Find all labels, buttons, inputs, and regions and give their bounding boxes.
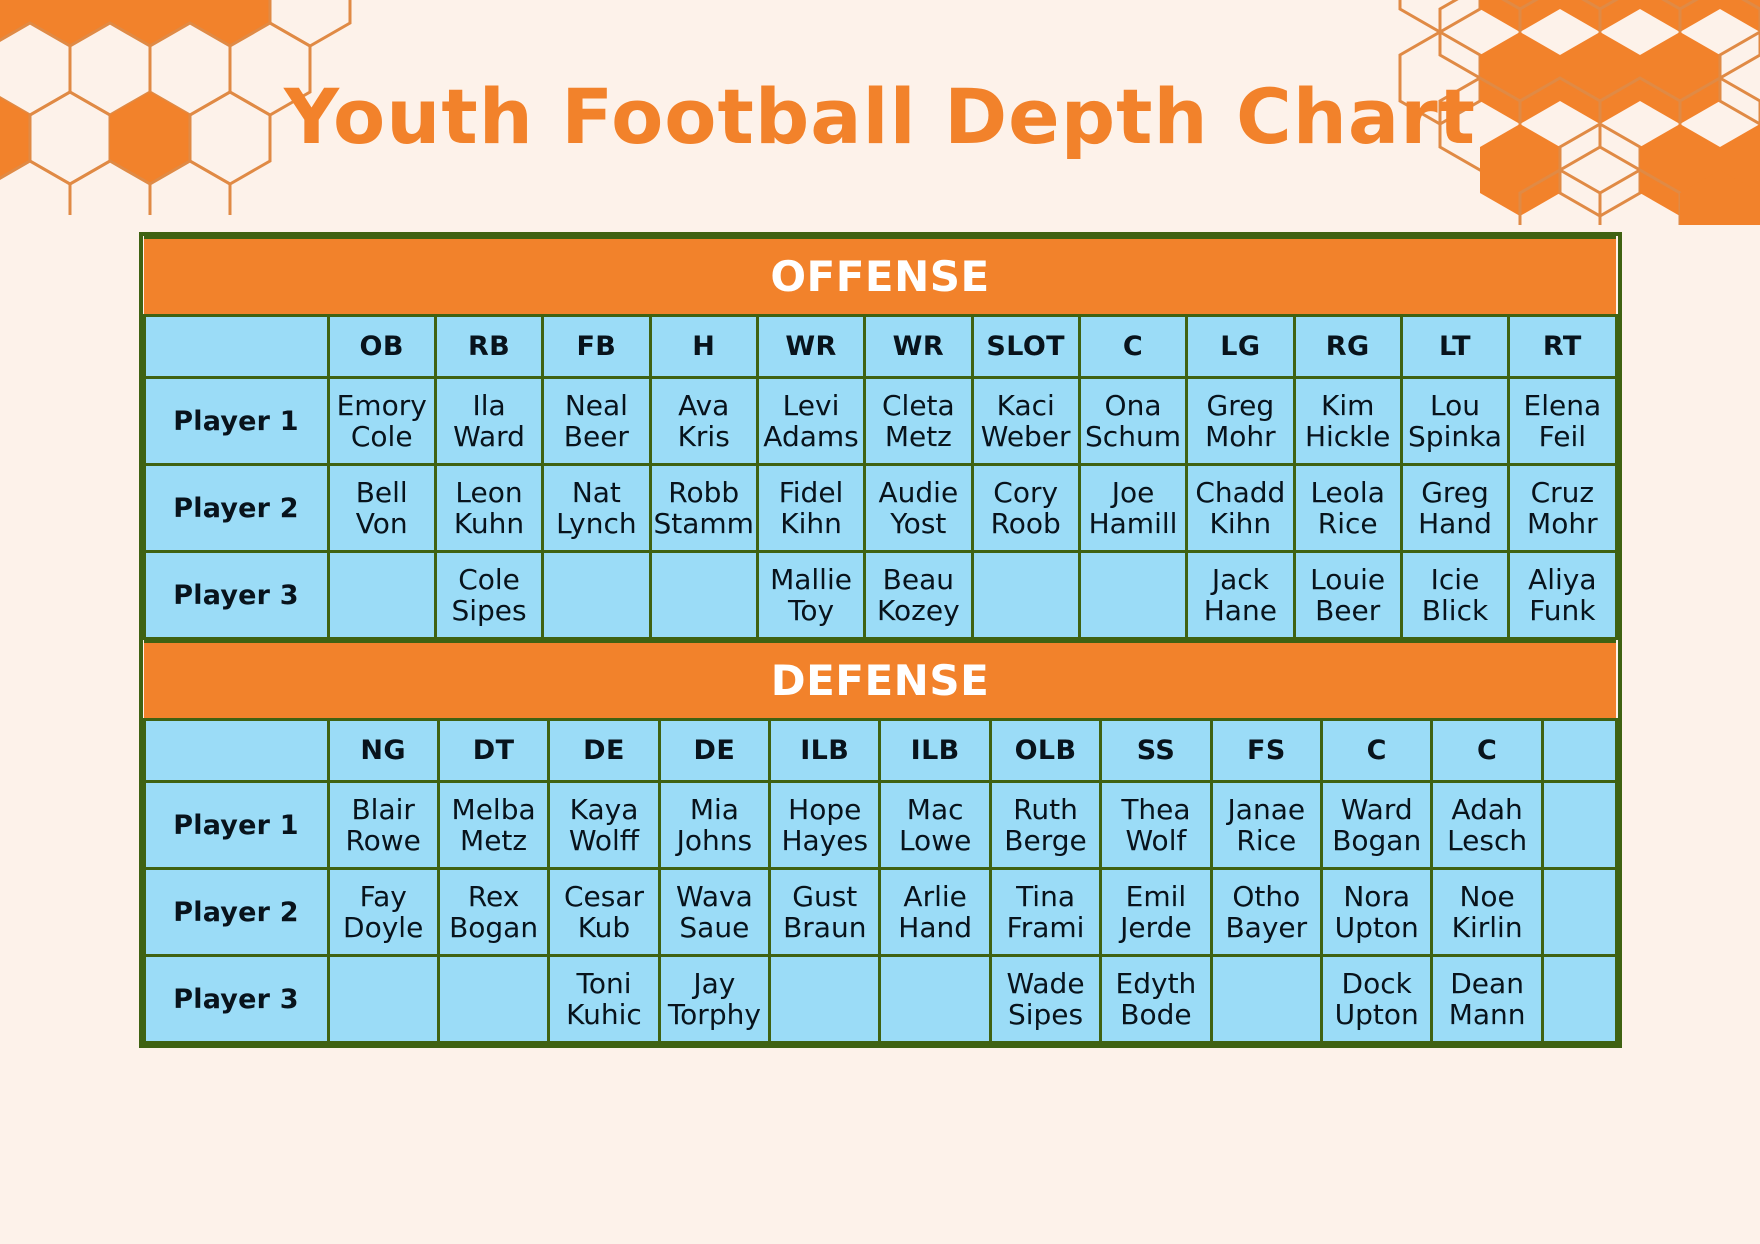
defense-position-olb: OLB [990,720,1100,782]
offense-p3-wr-1[interactable]: MallieToy [757,552,864,639]
offense-section-row: OFFENSE [144,238,1616,316]
offense-p3-rg[interactable]: LouieBeer [1294,552,1401,639]
offense-p1-c[interactable]: OnaSchum [1079,378,1186,465]
defense-p2-ss[interactable]: EmilJerde [1101,869,1211,956]
defense-p2-dt[interactable]: RexBogan [438,869,548,956]
offense-p2-ob[interactable]: BellVon [328,465,435,552]
offense-position-wr-1: WR [757,316,864,378]
offense-p1-lt[interactable]: LouSpinka [1401,378,1508,465]
defense-row-label-player-3: Player 3 [144,956,328,1043]
offense-p1-lg[interactable]: GregMohr [1187,378,1294,465]
defense-position-c-2: C [1432,720,1542,782]
offense-position-wr-2: WR [865,316,972,378]
defense-p3-ng[interactable] [328,956,438,1043]
table-row: Player 2 BellVon LeonKuhn NatLynch RobbS… [144,465,1616,552]
offense-p3-ob[interactable] [328,552,435,639]
offense-p2-c[interactable]: JoeHamill [1079,465,1186,552]
defense-p3-c-2[interactable]: DeanMann [1432,956,1542,1043]
defense-p2-ilb-2[interactable]: ArlieHand [880,869,990,956]
offense-position-ob: OB [328,316,435,378]
offense-position-h: H [650,316,757,378]
defense-row-label-player-2: Player 2 [144,869,328,956]
defense-p1-ng[interactable]: BlairRowe [328,782,438,869]
defense-p1-ilb-1[interactable]: HopeHayes [770,782,880,869]
offense-corner-cell [144,316,328,378]
defense-corner-cell [144,720,328,782]
offense-position-rt: RT [1509,316,1616,378]
defense-p1-ss[interactable]: TheaWolf [1101,782,1211,869]
offense-p3-rt[interactable]: AliyaFunk [1509,552,1616,639]
depth-chart-table: OFFENSE OB RB FB H WR WR SLOT C LG RG LT… [143,236,1618,640]
offense-p3-wr-2[interactable]: BeauKozey [865,552,972,639]
offense-p2-wr-1[interactable]: FidelKihn [757,465,864,552]
offense-p2-rb[interactable]: LeonKuhn [435,465,542,552]
offense-p2-rg[interactable]: LeolaRice [1294,465,1401,552]
offense-p1-fb[interactable]: NealBeer [543,378,650,465]
defense-p2-de-2[interactable]: WavaSaue [659,869,769,956]
offense-p1-wr-2[interactable]: CletaMetz [865,378,972,465]
offense-p3-slot[interactable] [972,552,1079,639]
offense-p2-lt[interactable]: GregHand [1401,465,1508,552]
defense-p3-de-2[interactable]: JayTorphy [659,956,769,1043]
offense-row-label-player-2: Player 2 [144,465,328,552]
defense-p3-dt[interactable] [438,956,548,1043]
defense-p1-c-1[interactable]: WardBogan [1322,782,1432,869]
offense-p1-h[interactable]: AvaKris [650,378,757,465]
defense-row-label-player-1: Player 1 [144,782,328,869]
offense-p2-fb[interactable]: NatLynch [543,465,650,552]
offense-position-rb: RB [435,316,542,378]
table-row: Player 1 EmoryCole IlaWard NealBeer AvaK… [144,378,1616,465]
offense-p1-wr-1[interactable]: LeviAdams [757,378,864,465]
offense-section-label: OFFENSE [144,238,1616,316]
defense-p3-blank[interactable] [1542,956,1616,1043]
defense-p1-ilb-2[interactable]: MacLowe [880,782,990,869]
offense-p1-rb[interactable]: IlaWard [435,378,542,465]
defense-p1-dt[interactable]: MelbaMetz [438,782,548,869]
defense-p1-fs[interactable]: JanaeRice [1211,782,1321,869]
page-title: Youth Football Depth Chart [284,72,1476,161]
defense-p2-fs[interactable]: OthoBayer [1211,869,1321,956]
offense-p3-c[interactable] [1079,552,1186,639]
defense-p2-c-1[interactable]: NoraUpton [1322,869,1432,956]
offense-position-rg: RG [1294,316,1401,378]
defense-p2-c-2[interactable]: NoeKirlin [1432,869,1542,956]
defense-position-de-2: DE [659,720,769,782]
defense-header-row: NG DT DE DE ILB ILB OLB SS FS C C [144,720,1616,782]
table-row: Player 3 ColeSipes MallieToy BeauKozey J… [144,552,1616,639]
offense-p2-lg[interactable]: ChaddKihn [1187,465,1294,552]
title-bar: Youth Football Depth Chart [0,0,1760,232]
offense-p3-lt[interactable]: IcieBlick [1401,552,1508,639]
depth-chart-container: OFFENSE OB RB FB H WR WR SLOT C LG RG LT… [139,232,1622,1048]
defense-position-ss: SS [1101,720,1211,782]
defense-p1-blank[interactable] [1542,782,1616,869]
offense-p2-rt[interactable]: CruzMohr [1509,465,1616,552]
defense-position-ilb-2: ILB [880,720,990,782]
defense-position-dt: DT [438,720,548,782]
offense-row-label-player-3: Player 3 [144,552,328,639]
defense-table: DEFENSE NG DT DE DE ILB ILB OLB SS FS C … [143,640,1618,1044]
offense-p3-rb[interactable]: ColeSipes [435,552,542,639]
defense-position-de-1: DE [549,720,659,782]
offense-p1-slot[interactable]: KaciWeber [972,378,1079,465]
defense-p3-ilb-2[interactable] [880,956,990,1043]
offense-position-c: C [1079,316,1186,378]
offense-p1-ob[interactable]: EmoryCole [328,378,435,465]
defense-p2-de-1[interactable]: CesarKub [549,869,659,956]
defense-p3-ss[interactable]: EdythBode [1101,956,1211,1043]
table-row: Player 3 ToniKuhic JayTorphy WadeSipes E… [144,956,1616,1043]
defense-position-ng: NG [328,720,438,782]
offense-p3-h[interactable] [650,552,757,639]
defense-section-label: DEFENSE [144,642,1616,720]
defense-p3-c-1[interactable]: DockUpton [1322,956,1432,1043]
table-row: Player 1 BlairRowe MelbaMetz KayaWolff M… [144,782,1616,869]
offense-header-row: OB RB FB H WR WR SLOT C LG RG LT RT [144,316,1616,378]
defense-position-ilb-1: ILB [770,720,880,782]
defense-p1-c-2[interactable]: AdahLesch [1432,782,1542,869]
table-row: Player 2 FayDoyle RexBogan CesarKub Wava… [144,869,1616,956]
defense-p1-de-1[interactable]: KayaWolff [549,782,659,869]
defense-p3-olb[interactable]: WadeSipes [990,956,1100,1043]
offense-p3-fb[interactable] [543,552,650,639]
defense-p2-ng[interactable]: FayDoyle [328,869,438,956]
offense-p3-lg[interactable]: JackHane [1187,552,1294,639]
offense-position-lg: LG [1187,316,1294,378]
offense-p1-rg[interactable]: KimHickle [1294,378,1401,465]
defense-p3-de-1[interactable]: ToniKuhic [549,956,659,1043]
defense-position-blank [1542,720,1616,782]
defense-position-fs: FS [1211,720,1321,782]
offense-position-fb: FB [543,316,650,378]
defense-p2-ilb-1[interactable]: GustBraun [770,869,880,956]
offense-p1-rt[interactable]: ElenaFeil [1509,378,1616,465]
offense-row-label-player-1: Player 1 [144,378,328,465]
offense-p2-h[interactable]: RobbStamm [650,465,757,552]
defense-p1-olb[interactable]: RuthBerge [990,782,1100,869]
defense-p2-blank[interactable] [1542,869,1616,956]
defense-position-c-1: C [1322,720,1432,782]
offense-position-lt: LT [1401,316,1508,378]
defense-p1-de-2[interactable]: MiaJohns [659,782,769,869]
offense-p2-slot[interactable]: CoryRoob [972,465,1079,552]
offense-position-slot: SLOT [972,316,1079,378]
defense-p3-ilb-1[interactable] [770,956,880,1043]
defense-p2-olb[interactable]: TinaFrami [990,869,1100,956]
offense-p2-wr-2[interactable]: AudieYost [865,465,972,552]
defense-p3-fs[interactable] [1211,956,1321,1043]
defense-section-row: DEFENSE [144,642,1616,720]
